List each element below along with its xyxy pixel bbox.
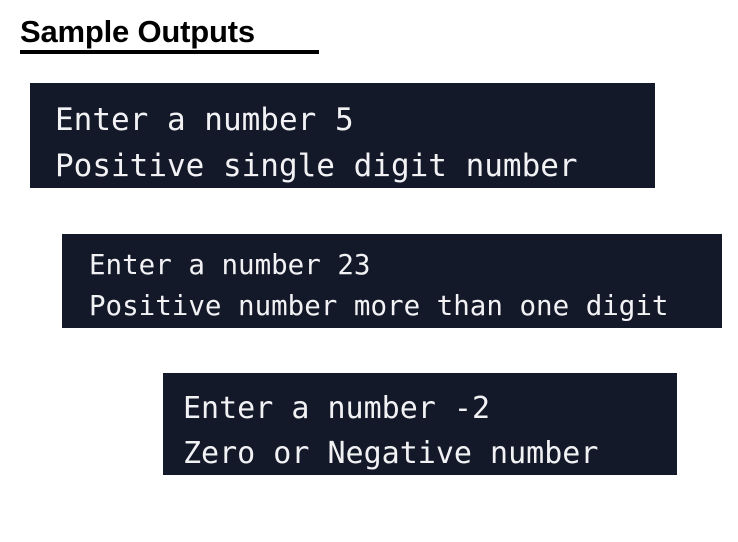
sample-output-2-result-line: Positive number more than one digit — [89, 286, 722, 327]
sample-output-1-result-line: Positive single digit number — [55, 143, 655, 188]
sample-output-2-prompt-line: Enter a number 23 — [89, 245, 722, 286]
slide-canvas: Sample Outputs Enter a number 5 Positive… — [0, 0, 738, 542]
sample-output-2: Enter a number 23 Positive number more t… — [62, 234, 722, 328]
sample-output-3: Enter a number -2 Zero or Negative numbe… — [163, 373, 677, 475]
sample-output-3-result-line: Zero or Negative number — [183, 431, 677, 475]
sample-output-1-prompt-line: Enter a number 5 — [55, 97, 655, 143]
sample-output-1: Enter a number 5 Positive single digit n… — [30, 83, 655, 188]
page-title-underline — [20, 50, 319, 54]
sample-output-3-prompt-line: Enter a number -2 — [183, 386, 677, 431]
page-title: Sample Outputs — [20, 12, 255, 52]
